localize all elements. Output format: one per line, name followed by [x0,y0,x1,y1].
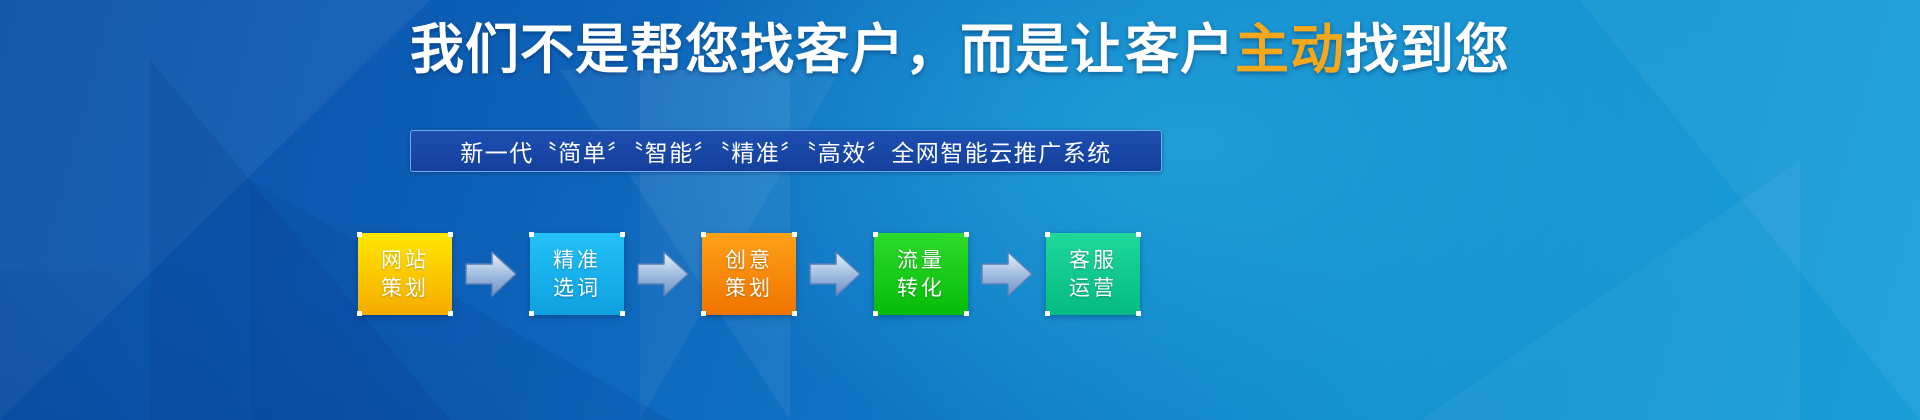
corner-marker [873,311,878,316]
headline-highlight: 主动 [1235,18,1345,81]
corner-marker [792,311,797,316]
corner-marker [620,311,625,316]
corner-marker [1045,311,1050,316]
corner-marker [1136,311,1141,316]
headline-suffix: 找到您 [1345,18,1510,81]
flow-step-4[interactable]: 流量转化 [874,233,968,315]
next-step-arrow-icon [808,248,862,300]
flow-step-5[interactable]: 客服运营 [1046,233,1140,315]
flow-step-3-line2: 策划 [725,274,773,302]
flow-step-5-line2: 运营 [1069,274,1117,302]
process-flow: 网站策划精准选词创意策划流量转化客服运营 [358,228,1228,320]
flow-step-1-line2: 策划 [381,274,429,302]
next-step-arrow-icon [636,248,690,300]
corner-marker [701,311,706,316]
subtitle-bar: 新一代〝简单〞〝智能〞〝精准〞〝高效〞全网智能云推广系统 [410,130,1162,172]
corner-marker [357,311,362,316]
promo-banner: 我们不是帮您找客户，而是让客户主动找到您 新一代〝简单〞〝智能〞〝精准〞〝高效〞… [0,0,1920,420]
flow-step-2-line1: 精准 [553,246,601,274]
headline-prefix: 我们不是帮您找客户，而是让客户 [410,18,1235,81]
flow-step-4-line2: 转化 [897,274,945,302]
headline: 我们不是帮您找客户，而是让客户主动找到您 [0,18,1920,82]
subtitle-text: 新一代〝简单〞〝智能〞〝精准〞〝高效〞全网智能云推广系统 [460,134,1112,168]
flow-step-5-line1: 客服 [1069,246,1117,274]
flow-step-1-line1: 网站 [381,246,429,274]
flow-step-4-line1: 流量 [897,246,945,274]
flow-step-2[interactable]: 精准选词 [530,233,624,315]
next-step-arrow-icon [980,248,1034,300]
flow-step-3-line1: 创意 [725,246,773,274]
flow-step-3[interactable]: 创意策划 [702,233,796,315]
flow-step-2-line2: 选词 [553,274,601,302]
corner-marker [964,311,969,316]
next-step-arrow-icon [464,248,518,300]
corner-marker [529,311,534,316]
corner-marker [448,311,453,316]
flow-step-1[interactable]: 网站策划 [358,233,452,315]
background-shape-8 [1420,160,1800,420]
